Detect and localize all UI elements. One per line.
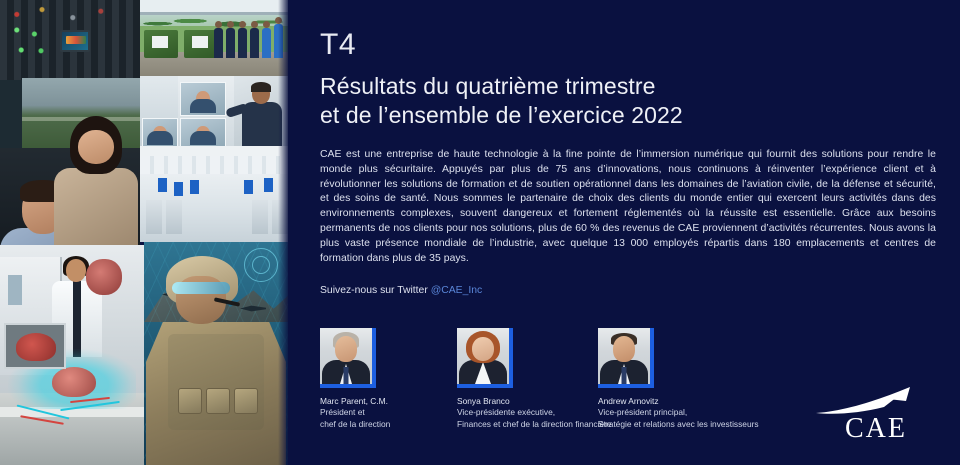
- executive-card: Sonya Branco Vice-présidente exécutive, …: [457, 328, 513, 388]
- executive-card: Marc Parent, C.M. Président et chef de l…: [320, 328, 376, 388]
- company-description: CAE est une entreprise de haute technolo…: [320, 148, 936, 266]
- portrait-andrew-arnovitz: [598, 328, 654, 388]
- collage-photo-outdoor-training: [140, 0, 288, 76]
- cockpit-indicator-lights: [8, 22, 52, 62]
- svg-text:CAE: CAE: [845, 413, 907, 443]
- social-follow-line: Suivez-nous sur Twitter @CAE_Inc: [320, 283, 482, 298]
- pilot-female-figure: [52, 118, 138, 245]
- collage-photo-defence-soldier: [144, 242, 288, 465]
- collage-photo-facility: [140, 156, 288, 242]
- portrait-sonya-branco: [457, 328, 513, 388]
- content-panel: T4 Résultats du quatrième trimestre et d…: [288, 0, 960, 465]
- social-prefix: Suivez-nous sur Twitter: [320, 285, 431, 296]
- photo-collage: [0, 0, 288, 465]
- executive-card: Andrew Arnovitz Vice-président principal…: [598, 328, 654, 388]
- portrait-marc-parent: [320, 328, 376, 388]
- collage-photo-healthcare-ar: [0, 245, 144, 465]
- page-title: Résultats du quatrième trimestre et de l…: [320, 72, 683, 130]
- collage-edge-fade: [278, 0, 288, 465]
- collage-photo-virtual-meeting: [140, 76, 288, 156]
- executive-role: Vice-président principal, Stratégie et r…: [598, 407, 798, 430]
- collage-photo-cockpit: [0, 0, 140, 245]
- cae-swoosh-logo: CAE: [814, 385, 934, 443]
- executive-name: Andrew Arnovitz: [598, 396, 778, 408]
- quarter-label: T4: [320, 28, 356, 62]
- twitter-handle-link[interactable]: @CAE_Inc: [431, 285, 483, 296]
- presentation-slide: T4 Résultats du quatrième trimestre et d…: [0, 0, 960, 465]
- cockpit-display-screen: [60, 30, 90, 52]
